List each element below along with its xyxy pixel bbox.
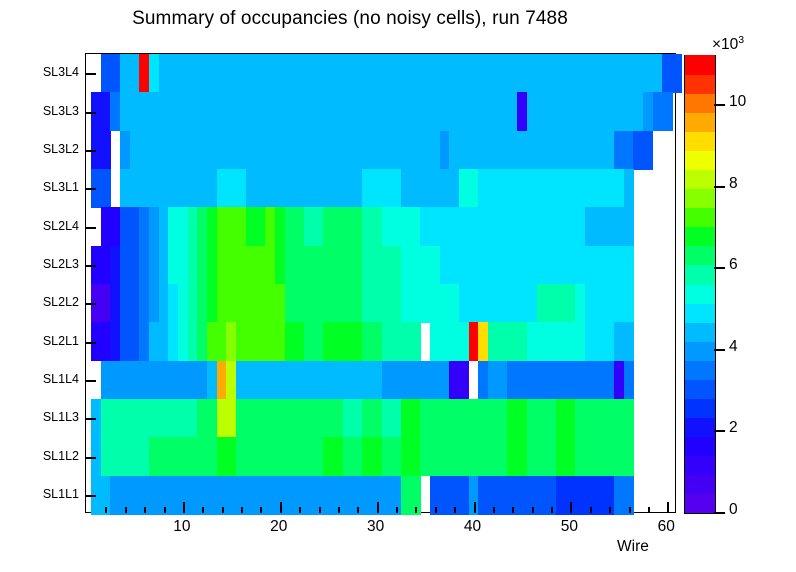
plot-frame [85,53,676,513]
heatmap-cells [86,54,675,512]
y-axis-label-sl1l2: SL1L2 [9,450,79,462]
colorbar-band [685,360,715,380]
y-axis-label-sl1l4: SL1L4 [9,373,79,385]
colorbar-tick [714,104,725,106]
y-axis-tick [85,495,96,497]
y-axis-tick [85,418,96,420]
y-axis-label-sl3l2: SL3L2 [9,143,79,155]
y-axis-tick [85,380,96,382]
x-axis-minor-tick [435,507,437,513]
y-axis-label-sl3l1: SL3L1 [9,181,79,193]
colorbar-band [685,455,715,475]
chart-title: Summary of occupancies (no noisy cells),… [0,8,700,30]
x-axis-major-tick [280,502,282,513]
x-axis-minor-tick [202,507,204,513]
colorbar-band [685,227,715,247]
x-axis-label-20: 20 [249,518,309,536]
x-axis-minor-tick [415,507,417,513]
heatmap-cell [624,246,634,285]
heatmap-cell [624,284,634,323]
colorbar-band [685,341,715,361]
x-axis-major-tick [570,502,572,513]
heatmap-cell [643,131,653,170]
x-axis-minor-tick [125,507,127,513]
y-axis-label-sl3l3: SL3L3 [9,105,79,117]
y-axis-label-sl1l1: SL1L1 [9,488,79,500]
x-axis-minor-tick [338,507,340,513]
x-axis-minor-tick [241,507,243,513]
heatmap-cell [411,322,421,361]
colorbar-band [685,132,715,152]
colorbar-band [685,417,715,437]
y-axis-label-sl2l3: SL2L3 [9,258,79,270]
colorbar-multiplier: ×103 [712,34,744,54]
y-axis-tick [85,303,96,305]
x-axis-minor-tick [551,507,553,513]
x-axis-label-40: 40 [443,518,503,536]
x-axis-major-tick [667,502,669,513]
colorbar-band [685,379,715,399]
x-axis-minor-tick [454,507,456,513]
colorbar-band [685,303,715,323]
colorbar-band [685,284,715,304]
x-axis-label-30: 30 [346,518,406,536]
colorbar-tick [714,512,725,514]
x-axis-label-50: 50 [539,518,599,536]
heatmap-cell [662,92,672,131]
colorbar-tick [714,430,725,432]
x-axis-minor-tick [648,507,650,513]
colorbar-band [685,246,715,266]
colorbar-band [685,74,715,94]
x-axis-minor-tick [319,507,321,513]
y-axis-tick [85,457,96,459]
x-axis-minor-tick [590,507,592,513]
x-axis-minor-tick [629,507,631,513]
heatmap-cell [624,207,634,246]
y-axis-tick [85,342,96,344]
colorbar-band [685,170,715,190]
colorbar-tick [714,186,725,188]
heatmap-cell [101,169,111,208]
colorbar-band [685,265,715,285]
x-axis-minor-tick [222,507,224,513]
y-axis-label-sl2l2: SL2L2 [9,296,79,308]
y-axis-tick [85,73,96,75]
x-axis-minor-tick [512,507,514,513]
x-axis-minor-tick [532,507,534,513]
y-axis-label-sl2l1: SL2L1 [9,335,79,347]
y-axis-tick [85,188,96,190]
colorbar-tick [714,267,725,269]
x-axis-minor-tick [299,507,301,513]
chart-canvas: Summary of occupancies (no noisy cells),… [0,0,796,572]
y-axis-label-sl1l3: SL1L3 [9,411,79,423]
heatmap-cell [624,437,634,476]
colorbar-label-0: 0 [729,503,738,517]
y-axis-tick [85,227,96,229]
heatmap-cell [624,322,634,361]
colorbar-label-2: 2 [729,421,738,435]
colorbar-label-10: 10 [729,95,746,109]
y-axis-label-sl3l4: SL3L4 [9,66,79,78]
colorbar-label-8: 8 [729,177,738,191]
colorbar-label-4: 4 [729,340,738,354]
x-axis-minor-tick [609,507,611,513]
colorbar-label-6: 6 [729,258,738,272]
colorbar-tick [714,349,725,351]
x-axis-label-60: 60 [636,518,696,536]
x-axis-minor-tick [105,507,107,513]
x-axis-title: Wire [617,538,649,556]
colorbar-band [685,322,715,342]
x-axis-major-tick [474,502,476,513]
colorbar-band [685,493,715,513]
y-axis-tick [85,265,96,267]
x-axis-major-tick [377,502,379,513]
y-axis-label-sl2l4: SL2L4 [9,220,79,232]
colorbar-band [685,113,715,133]
colorbar-band [685,208,715,228]
colorbar [684,55,716,514]
heatmap-cell [672,54,682,93]
x-axis-minor-tick [144,507,146,513]
heatmap-cell [624,361,634,400]
colorbar-multiplier-base: ×10 [712,36,738,53]
colorbar-band [685,55,715,75]
colorbar-band [685,474,715,494]
x-axis-minor-tick [164,507,166,513]
heatmap-cell [459,361,469,400]
x-axis-minor-tick [357,507,359,513]
heatmap-cell [101,131,111,170]
colorbar-band [685,151,715,171]
heatmap-cell [624,399,634,438]
x-axis-major-tick [183,502,185,513]
heatmap-cell [624,169,634,208]
x-axis-minor-tick [260,507,262,513]
x-axis-label-10: 10 [152,518,212,536]
colorbar-band [685,93,715,113]
colorbar-band [685,398,715,418]
colorbar-band [685,436,715,456]
x-axis-minor-tick [396,507,398,513]
colorbar-multiplier-exponent: 3 [738,34,744,46]
colorbar-band [685,189,715,209]
y-axis-tick [85,112,96,114]
y-axis-tick [85,150,96,152]
x-axis-minor-tick [493,507,495,513]
